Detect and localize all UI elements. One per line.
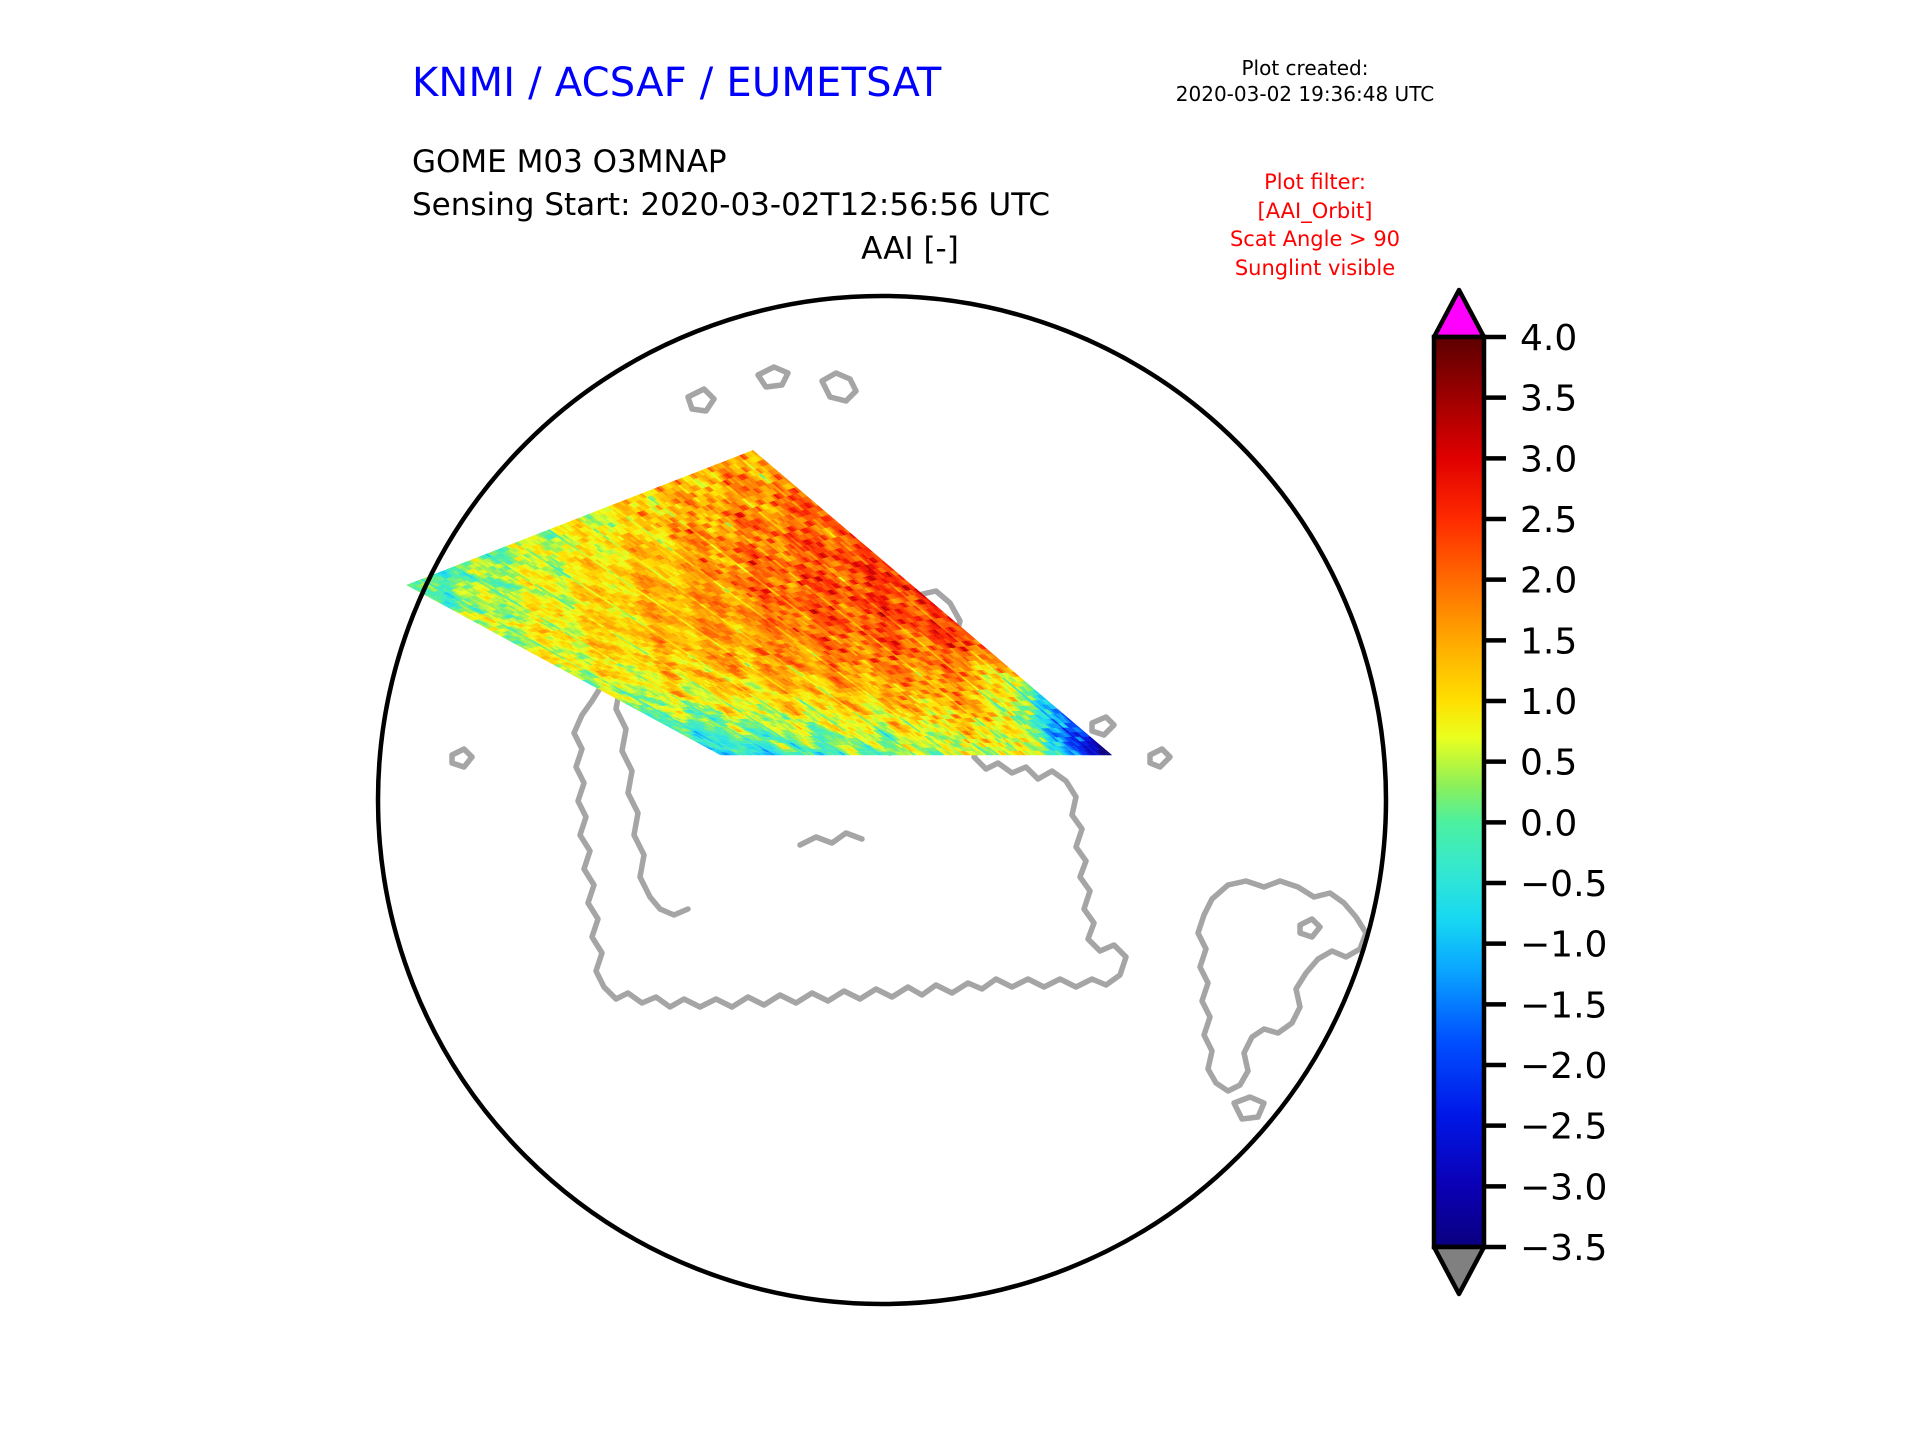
plot-created-timestamp: 2020-03-02 19:36:48 UTC — [1160, 81, 1450, 107]
polar-map — [370, 285, 1400, 1315]
colorbar-tick-label: −1.0 — [1520, 925, 1607, 966]
colorbar-tick-label: 0.0 — [1520, 803, 1577, 844]
globe-disc — [378, 296, 1386, 1304]
instrument-title: GOME M03 O3MNAP — [412, 141, 1050, 184]
colorbar-panel: 4.03.53.02.52.01.51.00.50.0−0.5−1.0−1.5−… — [1420, 282, 1680, 1342]
colorbar-tick-label: −3.0 — [1520, 1167, 1607, 1208]
colorbar-over-arrow — [1434, 290, 1484, 337]
plot-filter-block: Plot filter: [AAI_Orbit] Scat Angle > 90… — [1185, 168, 1445, 282]
colorbar-tick-label: 1.0 — [1520, 682, 1577, 723]
colorbar-tick-label: 2.0 — [1520, 561, 1577, 602]
colorbar-tick-label: 4.0 — [1520, 318, 1577, 359]
plot-created-block: Plot created: 2020-03-02 19:36:48 UTC — [1160, 55, 1450, 108]
colorbar-under-arrow — [1434, 1247, 1484, 1294]
plot-filter-line-1: [AAI_Orbit] — [1185, 197, 1445, 226]
colorbar-gradient-bar — [1434, 337, 1484, 1247]
colorbar-tick-label: −2.0 — [1520, 1046, 1607, 1087]
colorbar: 4.03.53.02.52.01.51.00.50.0−0.5−1.0−1.5−… — [1420, 282, 1680, 1342]
sensing-start-title: Sensing Start: 2020-03-02T12:56:56 UTC — [412, 184, 1050, 227]
colorbar-ticks-group: 4.03.53.02.52.01.51.00.50.0−0.5−1.0−1.5−… — [1484, 318, 1607, 1269]
organisation-line: KNMI / ACSAF / EUMETSAT — [412, 60, 942, 106]
colorbar-tick-label: 2.5 — [1520, 500, 1577, 541]
colorbar-tick-label: 3.0 — [1520, 439, 1577, 480]
colorbar-tick-label: 1.5 — [1520, 621, 1577, 662]
plot-filter-line-2: Scat Angle > 90 — [1185, 225, 1445, 254]
plot-filter-heading: Plot filter: — [1185, 168, 1445, 197]
plot-created-label: Plot created: — [1160, 55, 1450, 81]
colorbar-tick-label: −0.5 — [1520, 864, 1607, 905]
colorbar-tick-label: 3.5 — [1520, 379, 1577, 420]
plot-canvas: KNMI / ACSAF / EUMETSAT Plot created: 20… — [0, 0, 1920, 1440]
colorbar-tick-label: −2.5 — [1520, 1107, 1607, 1148]
colorbar-tick-label: 0.5 — [1520, 743, 1577, 784]
map-panel — [370, 285, 1400, 1315]
plot-title-block: GOME M03 O3MNAP Sensing Start: 2020-03-0… — [412, 141, 1050, 227]
variable-label: AAI [-] — [760, 231, 1060, 267]
colorbar-tick-label: −3.5 — [1520, 1228, 1607, 1269]
plot-filter-line-3: Sunglint visible — [1185, 254, 1445, 283]
colorbar-tick-label: −1.5 — [1520, 985, 1607, 1026]
